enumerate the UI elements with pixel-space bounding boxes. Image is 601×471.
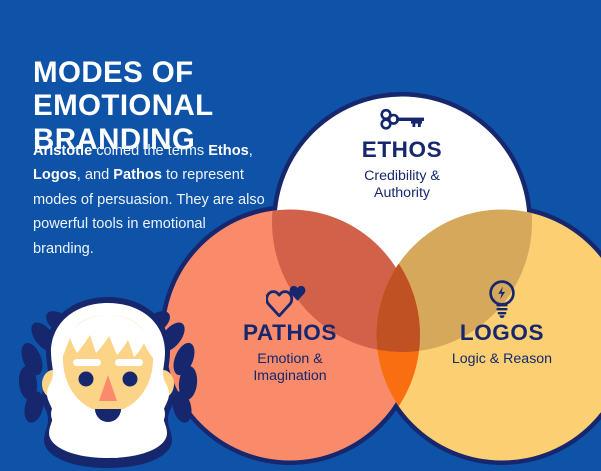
- ethos-title: ETHOS: [318, 139, 486, 162]
- logos-subtitle: Logic & Reason: [418, 351, 586, 369]
- intro-run-6: Pathos: [113, 167, 162, 183]
- logos-label-block: LOGOS Logic & Reason: [418, 322, 586, 368]
- overlap-all-three: [377, 210, 601, 461]
- intro-run-2: Ethos: [208, 143, 249, 159]
- intro-run-5: , and: [77, 167, 114, 183]
- ethos-subtitle: Credibility & Authority: [318, 168, 486, 203]
- aristotle-philosopher-avatar: [16, 283, 200, 471]
- intro-run-3: ,: [249, 143, 253, 159]
- infographic-poster: Modes of Emotional Branding Aristotle co…: [0, 0, 601, 471]
- pathos-subtitle-line2: Imagination: [253, 368, 326, 384]
- ethos-subtitle-line2: Authority: [374, 185, 430, 201]
- venn-circle-logos[interactable]: [377, 210, 601, 461]
- lightbulb-icon: [484, 278, 520, 320]
- pathos-subtitle-line1: Emotion &: [257, 351, 322, 367]
- pathos-label-block: PATHOS Emotion & Imagination: [206, 322, 374, 386]
- ethos-label-block: ETHOS Credibility & Authority: [318, 139, 486, 203]
- overlap-pathos-logos: [377, 210, 601, 461]
- key-icon: [377, 106, 427, 134]
- logos-icon-container: [418, 278, 586, 328]
- intro-run-0: Aristotle: [33, 143, 92, 159]
- pathos-title: PATHOS: [206, 322, 374, 345]
- hearts-icon: [266, 283, 314, 317]
- ethos-subtitle-line1: Credibility &: [364, 168, 440, 184]
- pathos-subtitle: Emotion & Imagination: [206, 351, 374, 386]
- overlap-ethos-logos: [377, 210, 601, 461]
- pathos-icon-container: [206, 283, 374, 325]
- ethos-icon-container: [318, 106, 486, 142]
- intro-run-1: coined the terms: [92, 143, 208, 159]
- intro-run-4: Logos: [33, 167, 77, 183]
- intro-paragraph: Aristotle coined the terms Ethos, Logos,…: [33, 139, 265, 262]
